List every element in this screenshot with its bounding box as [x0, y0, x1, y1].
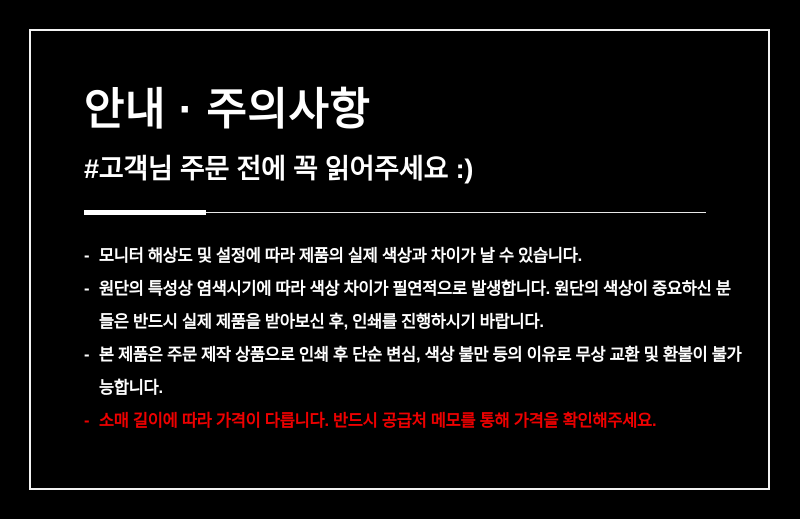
bullet-dash-icon: -	[84, 240, 99, 273]
bullet-dash-icon: -	[84, 405, 99, 438]
list-item-text: 원단의 특성상 염색시기에 따라 색상 차이가 필연적으로 발생합니다. 원단의…	[99, 280, 731, 331]
bullet-dash-icon: -	[84, 339, 99, 372]
list-item: - 원단의 특성상 염색시기에 따라 색상 차이가 필연적으로 발생합니다. 원…	[84, 273, 744, 339]
list-item-alert: - 소매 길이에 따라 가격이 다릅니다. 반드시 공급처 메모를 통해 가격을…	[84, 405, 744, 438]
page-subtitle: #고객님 주문 전에 꼭 읽어주세요 :)	[84, 152, 473, 186]
notice-list: - 모니터 해상도 및 설정에 따라 제품의 실제 색상과 차이가 날 수 있습…	[84, 240, 744, 438]
divider-thin-segment	[206, 212, 706, 213]
bullet-dash-icon: -	[84, 273, 99, 306]
page-title: 안내 · 주의사항	[84, 84, 370, 136]
divider-thick-segment	[84, 210, 206, 215]
list-item-text: 모니터 해상도 및 설정에 따라 제품의 실제 색상과 차이가 날 수 있습니다…	[99, 247, 582, 265]
list-item-text: 본 제품은 주문 제작 상품으로 인쇄 후 단순 변심, 색상 불만 등의 이유…	[99, 346, 742, 397]
list-item: - 본 제품은 주문 제작 상품으로 인쇄 후 단순 변심, 색상 불만 등의 …	[84, 339, 744, 405]
divider	[84, 210, 706, 215]
list-item-text: 소매 길이에 따라 가격이 다릅니다. 반드시 공급처 메모를 통해 가격을 확…	[99, 412, 656, 430]
list-item: - 모니터 해상도 및 설정에 따라 제품의 실제 색상과 차이가 날 수 있습…	[84, 240, 744, 273]
notice-banner: 안내 · 주의사항 #고객님 주문 전에 꼭 읽어주세요 :) - 모니터 해상…	[0, 0, 800, 519]
